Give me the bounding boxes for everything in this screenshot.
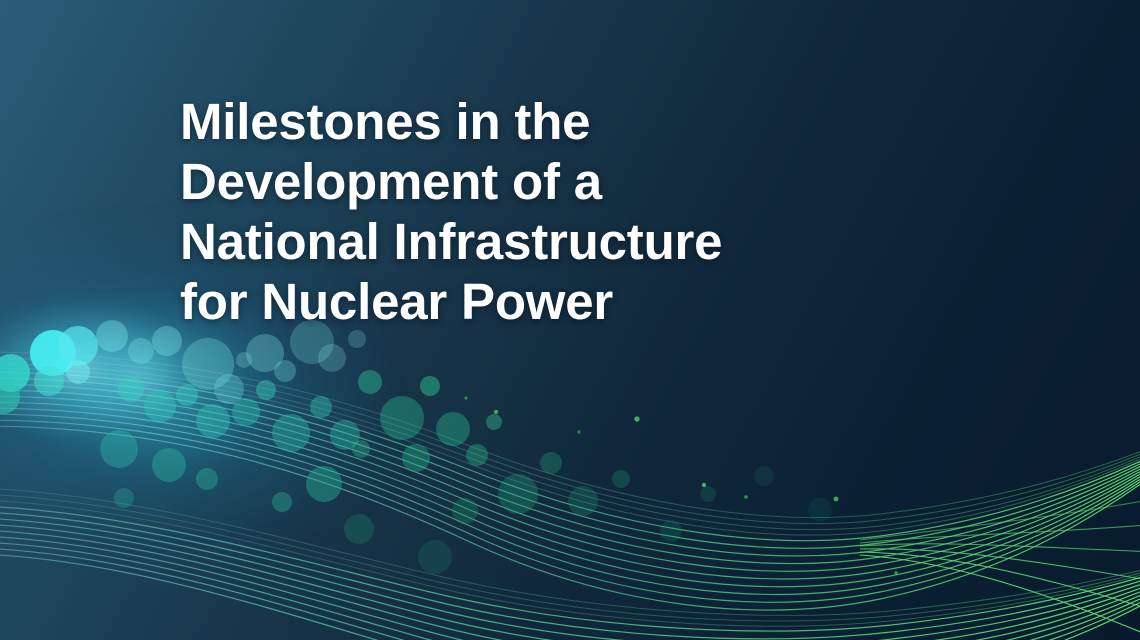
bokeh-circle xyxy=(808,498,832,522)
bokeh-circle xyxy=(452,498,478,524)
bokeh-circle xyxy=(540,452,562,474)
title-line-3: National Infrastructure xyxy=(180,212,780,272)
bokeh-circle xyxy=(498,474,538,514)
bokeh-circle xyxy=(754,466,774,486)
bokeh-circle xyxy=(128,338,154,364)
title-slide: Milestones in the Development of a Natio… xyxy=(0,0,1140,640)
bokeh-circle xyxy=(114,488,134,508)
page-title: Milestones in the Development of a Natio… xyxy=(180,92,780,332)
bokeh-circle xyxy=(700,486,716,502)
bokeh-circle xyxy=(96,320,128,352)
bokeh-circle xyxy=(232,398,260,426)
bokeh-circle xyxy=(274,360,296,382)
bokeh-circle xyxy=(402,444,430,472)
bokeh-circle xyxy=(152,326,182,356)
bokeh-circle xyxy=(380,396,424,440)
bokeh-circle xyxy=(34,366,64,396)
bokeh-circle xyxy=(272,414,310,452)
bokeh-circle xyxy=(306,466,342,502)
bokeh-circle xyxy=(152,448,186,482)
bokeh-circle xyxy=(256,380,276,400)
bokeh-circle xyxy=(118,376,144,402)
title-line-1: Milestones in the xyxy=(180,92,780,152)
bokeh-circle xyxy=(144,390,176,422)
bokeh-circle xyxy=(418,540,452,574)
bokeh-circle xyxy=(358,370,382,394)
bokeh-circle xyxy=(568,486,598,516)
bokeh-circle xyxy=(196,468,218,490)
bokeh-circle xyxy=(196,404,230,438)
bokeh-circle xyxy=(66,360,90,384)
bokeh-circle xyxy=(352,440,370,458)
bokeh-circle xyxy=(420,376,440,396)
bokeh-circle xyxy=(612,470,630,488)
bokeh-circle xyxy=(344,514,374,544)
bokeh-circle xyxy=(486,414,502,430)
bokeh-circle xyxy=(436,412,470,446)
bokeh-circle xyxy=(272,492,292,512)
bokeh-circle xyxy=(310,396,332,418)
title-line-2: Development of a xyxy=(180,152,780,212)
bokeh-circle xyxy=(466,444,488,466)
title-line-4: for Nuclear Power xyxy=(180,272,780,332)
bokeh-circle xyxy=(100,430,138,468)
bokeh-circle xyxy=(176,384,198,406)
bokeh-circle xyxy=(236,352,252,368)
bokeh-circle xyxy=(660,520,682,542)
bokeh-circle xyxy=(348,330,366,348)
bokeh-circle xyxy=(318,344,346,372)
